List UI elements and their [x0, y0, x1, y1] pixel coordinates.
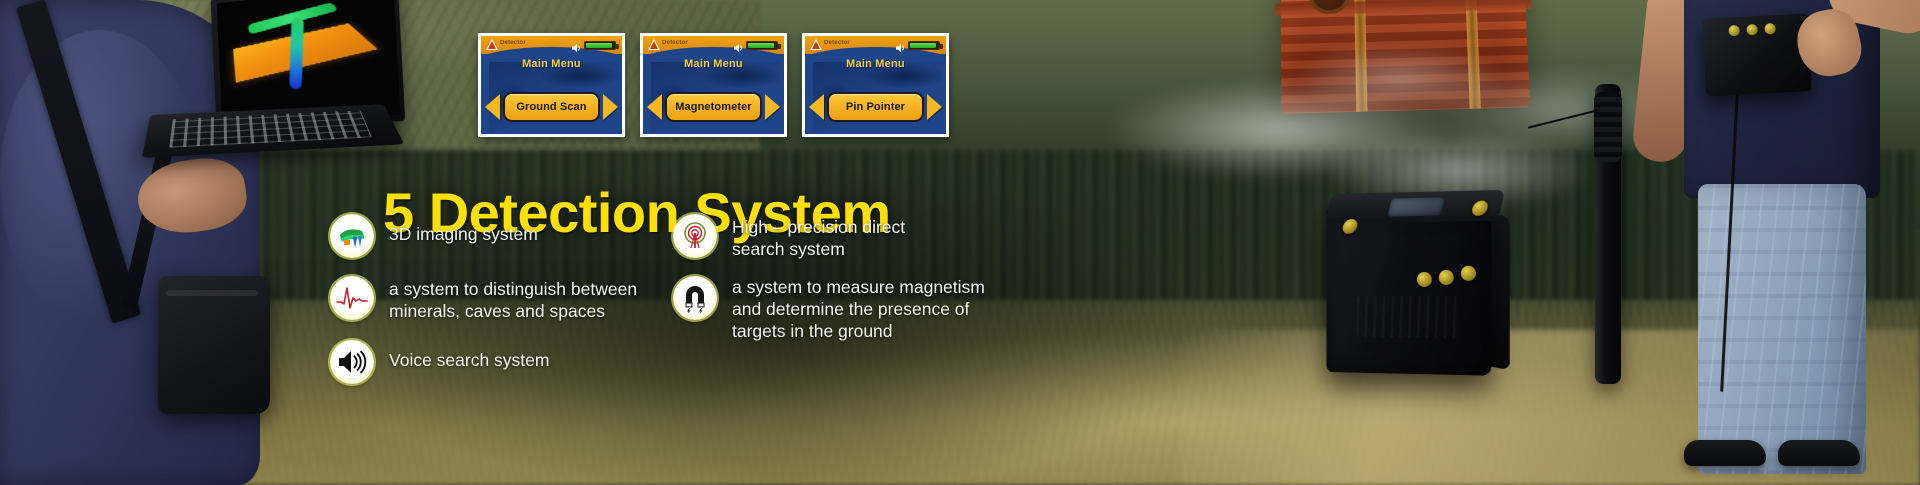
prev-mode-arrow-icon[interactable]: [485, 94, 500, 120]
brand-name-label: Detector: [824, 40, 850, 46]
next-mode-arrow-icon[interactable]: [927, 94, 942, 120]
battery-full-icon: [584, 41, 616, 50]
next-mode-arrow-icon[interactable]: [765, 94, 780, 120]
detector-knob: [1461, 266, 1476, 281]
pole-grip: [1594, 92, 1622, 162]
battery-full-icon: [908, 41, 940, 50]
right-person-photo: [1632, 0, 1920, 485]
sound-on-icon: [734, 40, 743, 50]
prev-mode-arrow-icon[interactable]: [647, 94, 662, 120]
device-menu-title: Main Menu: [481, 58, 622, 70]
sound-on-icon: [896, 40, 905, 50]
right-person-shoe: [1684, 440, 1766, 466]
feature-item-high-precision-direct-search: High – precision directsearch system: [673, 214, 1233, 260]
detector-knob: [1439, 270, 1454, 285]
handheld-control-unit: [1702, 13, 1812, 96]
sound-on-icon: [572, 40, 581, 50]
device-screen-ground-scan[interactable]: Detector Main Menu Ground Scan: [478, 33, 625, 137]
right-person-shoe: [1778, 440, 1860, 466]
detector-main-unit: [1326, 184, 1509, 385]
chest-band: [1354, 0, 1368, 112]
mode-selector-row: Magnetometer: [643, 92, 784, 122]
brand-logo-icon: [647, 38, 661, 52]
device-menu-title: Main Menu: [643, 58, 784, 70]
device-menu-title: Main Menu: [805, 58, 946, 70]
brand-logo-icon: [809, 38, 823, 52]
feature-label: a system to measure magnetismand determi…: [732, 276, 985, 342]
device-screen-gallery: Detector Main Menu Ground Scan Detector: [478, 33, 949, 137]
mode-selector-row: Pin Pointer: [805, 92, 946, 122]
detector-knob: [1417, 272, 1432, 287]
mode-button-ground-scan[interactable]: Ground Scan: [503, 92, 600, 122]
bag-strap: [16, 0, 141, 324]
handheld-knob: [1746, 24, 1758, 36]
battery-full-icon: [746, 41, 778, 50]
mode-selector-row: Ground Scan: [481, 92, 622, 122]
mode-button-pin-pointer[interactable]: Pin Pointer: [827, 92, 924, 122]
target-signal-icon: [673, 214, 717, 258]
feature-list-right: High – precision directsearch system a s…: [673, 214, 1233, 356]
detector-promo-banner: Detector Main Menu Ground Scan Detector: [0, 0, 1920, 485]
magnet-icon: [673, 276, 717, 320]
brand-name-label: Detector: [662, 40, 688, 46]
feature-label: 3D imaging system: [389, 214, 538, 245]
next-mode-arrow-icon[interactable]: [603, 94, 618, 120]
laptop-base: [142, 104, 404, 158]
scan-target-spike: [289, 17, 304, 89]
laptop-with-3d-scan: [148, 0, 393, 176]
device-screen-magnetometer[interactable]: Detector Main Menu Magnetometer: [640, 33, 787, 137]
speaker-icon: [330, 340, 374, 384]
mode-button-magnetometer[interactable]: Magnetometer: [665, 92, 762, 122]
3d-terrain-icon: [330, 214, 374, 258]
3d-scan-graphic: [222, 0, 388, 101]
handheld-knob: [1728, 25, 1740, 37]
laptop-screen: [217, 0, 401, 117]
feature-item-magnetism-measurement: a system to measure magnetismand determi…: [673, 276, 1233, 342]
handheld-knob: [1764, 23, 1776, 35]
brand-name-label: Detector: [500, 40, 526, 46]
device-screen-pin-pointer[interactable]: Detector Main Menu Pin Pointer: [802, 33, 949, 137]
detector-branding: [1357, 296, 1459, 339]
feature-label: a system to distinguish betweenminerals,…: [389, 276, 637, 322]
waveform-icon: [330, 276, 374, 320]
laptop-keyboard: [169, 110, 372, 147]
detector-knob: [1470, 200, 1489, 216]
chest-body: [1281, 0, 1531, 114]
feature-label: Voice search system: [389, 340, 549, 371]
prev-mode-arrow-icon[interactable]: [809, 94, 824, 120]
detector-display: [1387, 197, 1445, 216]
search-pole: [1595, 84, 1621, 384]
treasure-chest: [1281, 0, 1531, 114]
feature-label: High – precision directsearch system: [732, 214, 905, 260]
detector-top-face: [1325, 190, 1506, 223]
brand-logo-icon: [485, 38, 499, 52]
shoulder-bag: [158, 276, 270, 414]
